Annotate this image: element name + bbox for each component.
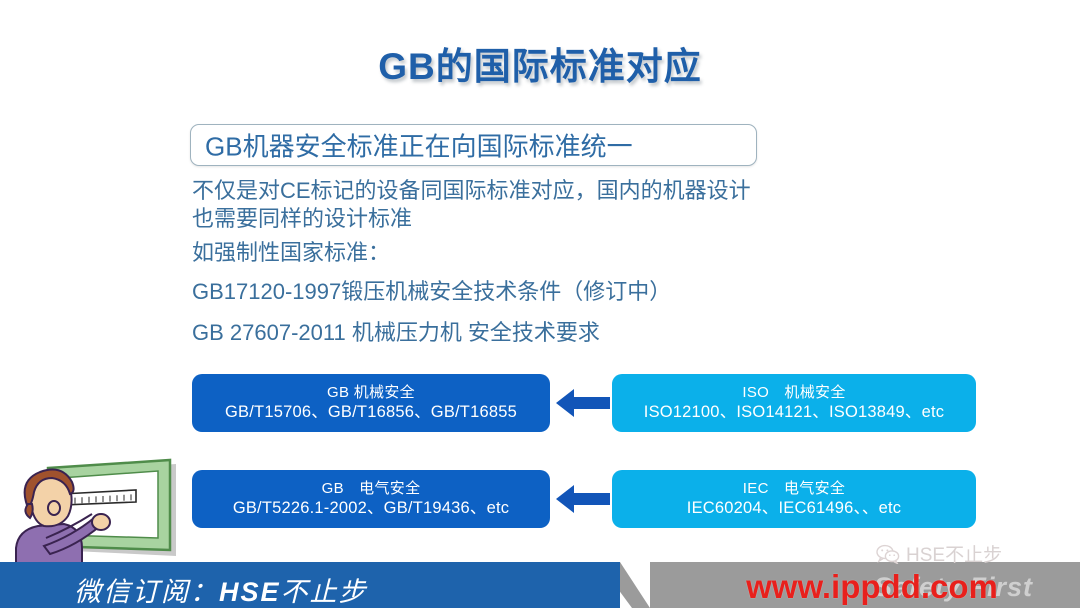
headline-box: GB机器安全标准正在向国际标准统一 <box>190 124 757 166</box>
slide-canvas: GB的国际标准对应 GB机器安全标准正在向国际标准统一 不仅是对CE标记的设备同… <box>0 0 1080 608</box>
wechat-watermark-label: HSE不止步 <box>906 540 1002 567</box>
flow-box-title: GB 机械安全 <box>327 383 415 402</box>
footer-subscribe-suffix: 不止步 <box>281 577 368 607</box>
flow-box-title: ISO 机械安全 <box>742 383 845 402</box>
body-line-1: 不仅是对CE标记的设备同国际标准对应，国内的机器设计 <box>192 178 892 204</box>
flow-box-standards: GB/T15706、GB/T16856、GB/T16855 <box>225 402 517 423</box>
person-at-whiteboard-illustration <box>8 452 180 572</box>
wechat-icon <box>876 544 900 564</box>
left-arrow-icon <box>556 482 610 516</box>
flow-box-standards: GB/T5226.1-2002、GB/T19436、etc <box>233 498 509 519</box>
body-line-4: GB17120-1997锻压机械安全技术条件（修订中） <box>192 271 892 312</box>
flow-box-iec-electrical: IEC 电气安全 IEC60204、IEC61496、、etc <box>612 470 976 528</box>
footer-wedge <box>592 562 620 584</box>
flow-box-title: IEC 电气安全 <box>743 479 845 498</box>
footer-subscribe-prefix: 微信订阅： <box>74 577 219 607</box>
flow-box-gb-mechanical: GB 机械安全 GB/T15706、GB/T16856、GB/T16855 <box>192 374 550 432</box>
flow-box-gb-electrical: GB 电气安全 GB/T5226.1-2002、GB/T19436、etc <box>192 470 550 528</box>
flow-box-standards: IEC60204、IEC61496、、etc <box>687 498 901 519</box>
body-line-5: GB 27607-2011 机械压力机 安全技术要求 <box>192 312 892 353</box>
url-watermark: www.ippdd.com <box>746 568 998 606</box>
body-line-3: 如强制性国家标准： <box>192 234 892 271</box>
wechat-watermark: HSE不止步 <box>876 540 1002 567</box>
flow-box-iso-mechanical: ISO 机械安全 ISO12100、ISO14121、ISO13849、etc <box>612 374 976 432</box>
body-text-block: 不仅是对CE标记的设备同国际标准对应，国内的机器设计 也需要同样的设计标准 如强… <box>192 178 892 353</box>
headline-text: GB机器安全标准正在向国际标准统一 <box>205 127 633 164</box>
page-title: GB的国际标准对应 <box>0 36 1080 90</box>
footer-subscribe-text: 微信订阅：HSE不止步 <box>74 570 368 608</box>
flow-box-title: GB 电气安全 <box>322 479 421 498</box>
body-line-2: 也需要同样的设计标准 <box>192 204 892 234</box>
left-arrow-icon <box>556 386 610 420</box>
flow-box-standards: ISO12100、ISO14121、ISO13849、etc <box>644 402 944 423</box>
footer-subscribe-brand: HSE <box>219 577 281 607</box>
